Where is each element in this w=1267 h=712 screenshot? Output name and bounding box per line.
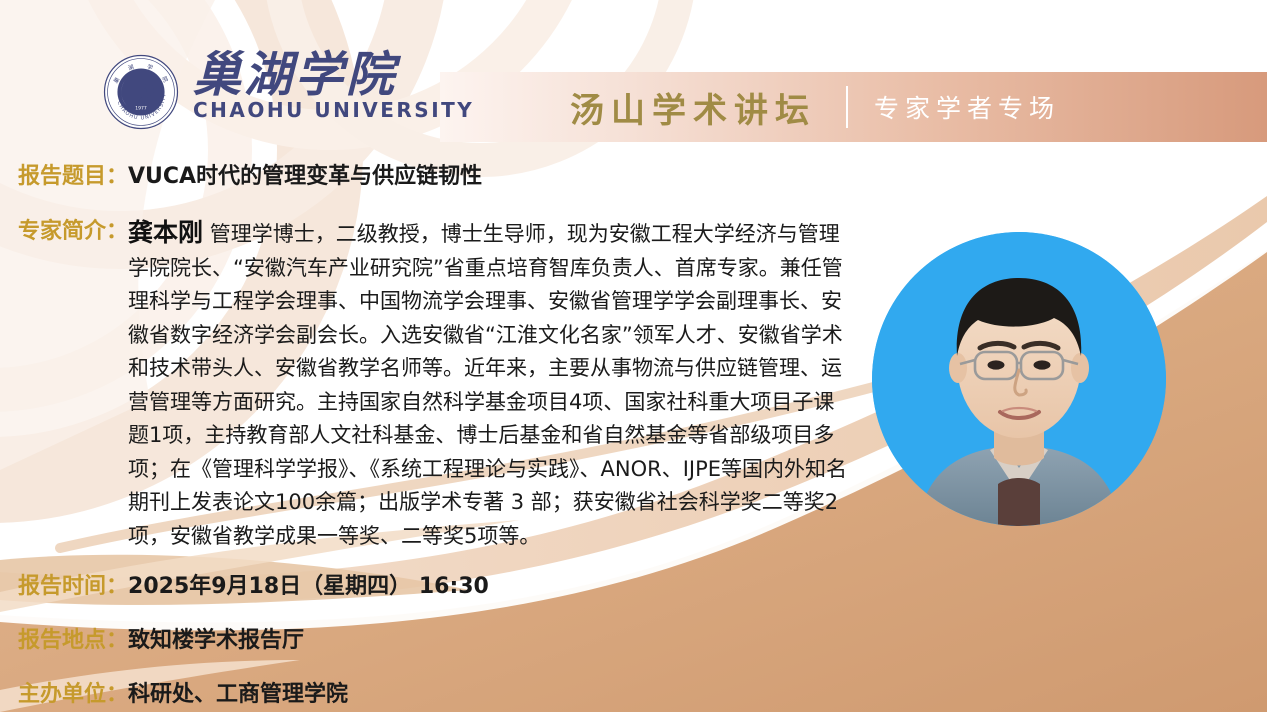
field-row-host: 主办单位： 科研处、工商管理学院	[18, 676, 348, 708]
field-row-place: 报告地点： 致知楼学术报告厅	[18, 622, 304, 654]
place-value: 致知楼学术报告厅	[128, 622, 304, 654]
bio-body: 龚本刚 管理学博士，二级教授，博士生导师，现为安徽工程大学经济与管理学院院长、“…	[128, 213, 853, 553]
speaker-portrait-illustration	[872, 232, 1166, 526]
host-label: 主办单位：	[18, 676, 128, 708]
poster-canvas: 汤山学术讲坛 专家学者专场 1977 巢 湖 学 院	[0, 0, 1267, 712]
time-value: 2025年9月18日（星期四） 16:30	[128, 568, 489, 600]
speaker-portrait	[872, 232, 1166, 526]
speaker-name: 龚本刚	[128, 218, 203, 247]
title-label: 报告题目：	[18, 158, 128, 190]
bio-label: 专家简介：	[18, 213, 128, 245]
title-value: VUCA时代的管理变革与供应链韧性	[128, 158, 482, 190]
field-row-bio: 专家简介： 龚本刚 管理学博士，二级教授，博士生导师，现为安徽工程大学经济与管理…	[18, 213, 878, 553]
host-value: 科研处、工商管理学院	[128, 676, 348, 708]
field-row-title: 报告题目： VUCA时代的管理变革与供应链韧性	[18, 158, 482, 190]
bio-text: 管理学博士，二级教授，博士生导师，现为安徽工程大学经济与管理学院院长、“安徽汽车…	[128, 222, 847, 548]
place-label: 报告地点：	[18, 622, 128, 654]
field-row-time: 报告时间： 2025年9月18日（星期四） 16:30	[18, 568, 489, 600]
time-label: 报告时间：	[18, 568, 128, 600]
